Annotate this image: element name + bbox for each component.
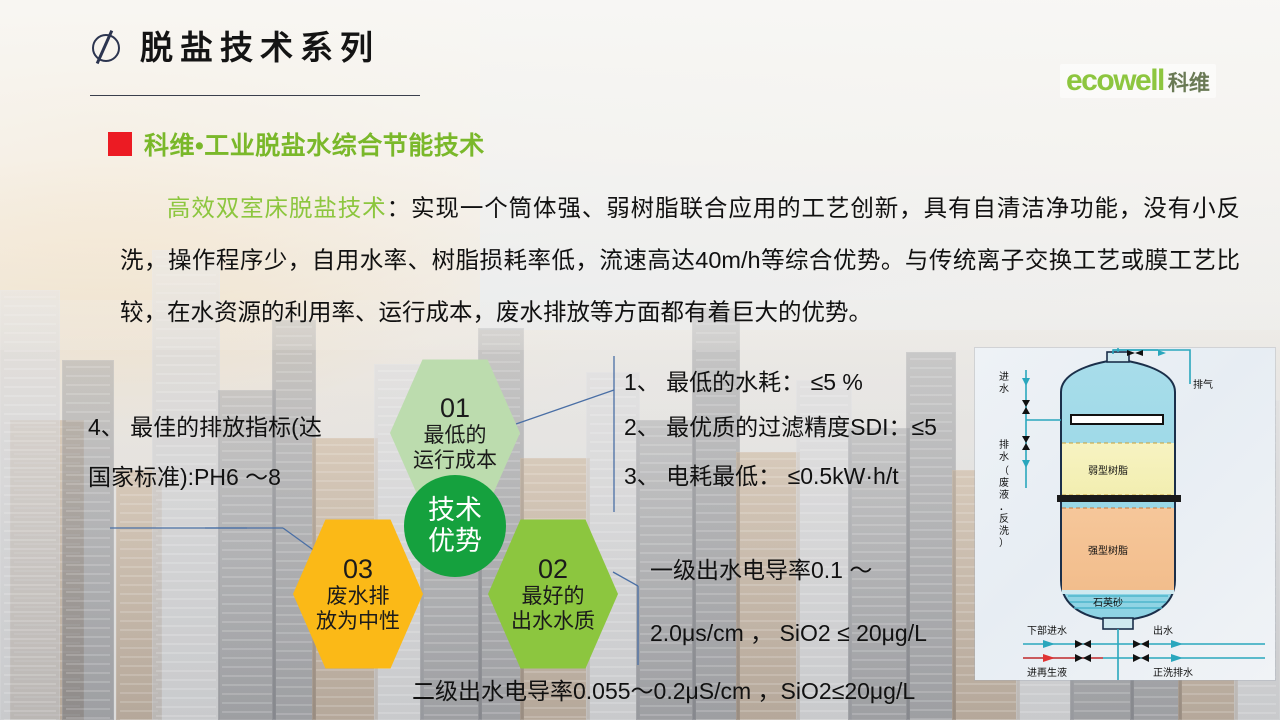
intro-paragraph: 高效双室床脱盐技术：实现一个筒体强、弱树脂联合应用的工艺创新，具有自清洁净功能，… — [120, 182, 1240, 338]
svg-text:水: 水 — [999, 451, 1009, 463]
section-subtitle: 科维•工业脱盐水综合节能技术 — [108, 126, 485, 162]
logo-chinese-name: 科维 — [1168, 73, 1210, 94]
label-strong-resin: 强型树脂 — [1088, 544, 1128, 557]
svg-text:）: ） — [999, 537, 1009, 549]
label-drain: 排 — [999, 438, 1009, 451]
label-regenerant-in: 进再生液 — [1027, 666, 1067, 679]
logo-wordmark: ecowell — [1066, 66, 1164, 96]
section-subtitle-text: 科维•工业脱盐水综合节能技术 — [144, 126, 485, 162]
middle-distributor — [1057, 495, 1181, 502]
slide-root: 脱盐技术系列 ecowell 科维 科维•工业脱盐水综合节能技术 高效双室床脱盐… — [0, 0, 1280, 720]
svg-text:水: 水 — [999, 383, 1009, 395]
svg-text:（: （ — [999, 465, 1009, 477]
red-square-bullet-icon — [108, 132, 132, 156]
advantage-item-2: 2、 最优质的过滤精度SDI：≤5 — [624, 408, 937, 442]
svg-text:洗: 洗 — [999, 525, 1009, 537]
advantage-item-1: 1、 最低的水耗： ≤5 % — [624, 363, 863, 397]
page-title: 脱盐技术系列 — [140, 31, 380, 64]
quality-note-line2: 2.0μs/cm ， SiO2 ≤ 20μg/L — [650, 614, 927, 648]
brand-logo: ecowell 科维 — [1060, 64, 1216, 98]
svg-text:．: ． — [999, 502, 1009, 513]
label-weak-resin: 弱型树脂 — [1088, 464, 1128, 477]
hexagon-02-line2: 出水水质 — [511, 609, 595, 634]
drain-arrow — [1022, 460, 1030, 468]
hexagon-03-line2: 放为中性 — [316, 609, 400, 634]
center-badge-line1: 技术 — [428, 495, 482, 526]
hexagon-02-line1: 最好的 — [522, 584, 585, 609]
label-quartz-sand: 石英砂 — [1093, 596, 1123, 609]
advantage-item-3: 3、 电耗最低： ≤0.5kW·h/t — [624, 457, 899, 491]
label-outlet: 出水 — [1153, 624, 1173, 637]
label-rinse-drain: 正洗排水 — [1153, 666, 1193, 679]
discharge-note-line2: 国家标准):PH6 ～8 — [88, 458, 281, 492]
quality-note-line1: 一级出水电导率0.1 ～ — [650, 551, 872, 585]
hexagon-03-number: 03 — [343, 554, 373, 584]
hexagon-03-line1: 废水排 — [327, 584, 390, 609]
upper-distributor — [1071, 415, 1163, 424]
svg-text:废: 废 — [999, 476, 1009, 489]
page-title-row: 脱盐技术系列 — [88, 30, 380, 64]
building — [0, 290, 60, 720]
hexagon-01-line1: 最低的 — [424, 423, 487, 448]
title-divider — [90, 95, 420, 96]
svg-text:反: 反 — [999, 513, 1009, 525]
label-inlet: 进 — [999, 371, 1009, 383]
hexagon-center-badge[interactable]: 技术 优势 — [404, 475, 506, 577]
hexagon-01-line2: 运行成本 — [413, 448, 497, 473]
null-slash-icon — [88, 30, 122, 64]
label-bottom-inlet: 下部进水 — [1027, 624, 1067, 637]
inlet-arrow — [1022, 378, 1030, 386]
quality-note-line3: 二级出水电导率0.055～0.2μS/cm ，SiO2≤20μg/L — [412, 672, 915, 706]
paragraph-lead: 高效双室床脱盐技术 — [166, 195, 387, 221]
building — [272, 320, 316, 720]
hexagon-01-number: 01 — [440, 393, 470, 423]
svg-text:液: 液 — [999, 488, 1009, 501]
label-vent: 排气 — [1193, 378, 1213, 391]
vessel-process-diagram: 排气 进 水 排 水 （ 废 液 ． 反 洗 ） 弱型树脂 强型 — [975, 348, 1275, 680]
discharge-note-line1: 4、 最佳的排放指标(达 — [88, 408, 322, 442]
center-badge-line2: 优势 — [428, 526, 482, 557]
hexagon-02-number: 02 — [538, 554, 568, 584]
